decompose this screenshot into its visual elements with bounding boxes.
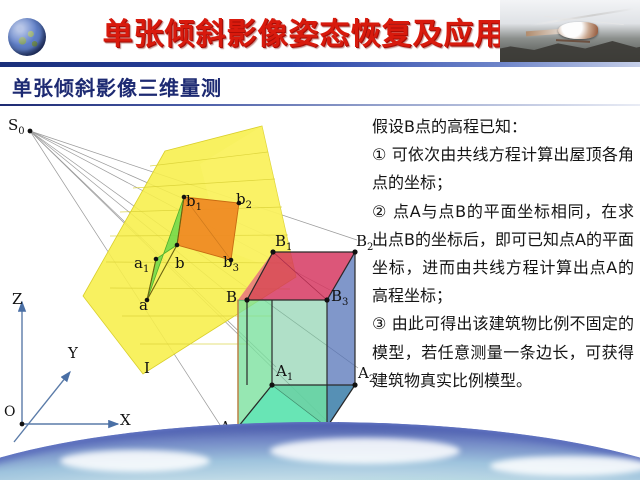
earth-cloud — [490, 456, 640, 476]
page-title: 单张倾斜影像姿态恢复及应用 — [104, 7, 504, 55]
axis-origin-dot — [20, 422, 25, 427]
slide-canvas: 单张倾斜影像姿态恢复及应用 单张倾斜影像三维量测 假设B点的高程已知： ① 可依… — [0, 0, 640, 480]
earth-cloud — [270, 438, 460, 464]
label-point-b2: b2 — [236, 190, 252, 211]
helicopter-body-shape — [558, 22, 598, 39]
label-axis-origin: O — [4, 404, 15, 420]
label-point-b3: b3 — [223, 253, 239, 274]
label-point-B: B — [226, 288, 237, 306]
label-perspective-center: S0 — [8, 116, 25, 137]
helicopter-photo — [500, 0, 640, 62]
section-subtitle: 单张倾斜影像三维量测 — [12, 72, 222, 101]
label-point-b1: b1 — [186, 192, 202, 213]
label-axis-y: Y — [68, 344, 78, 362]
helicopter-skid-shape — [556, 39, 590, 43]
label-point-B2: B2 — [356, 232, 373, 253]
diagram-svg — [0, 104, 640, 444]
label-point-A1: A1 — [276, 362, 293, 383]
label-point-a: a — [139, 296, 148, 314]
label-point-B1: B1 — [275, 232, 292, 253]
slide-header: 单张倾斜影像姿态恢复及应用 — [0, 0, 640, 62]
label-image-plane: I — [144, 359, 150, 377]
earth-globe-icon — [8, 18, 46, 56]
header-divider-bar — [0, 62, 640, 67]
label-point-b: b — [175, 254, 185, 272]
label-point-A2: A2 — [358, 364, 375, 385]
label-axis-x: X — [120, 411, 131, 429]
coordinate-axes — [14, 302, 118, 442]
label-point-a1: a1 — [134, 254, 149, 275]
earth-cloud — [60, 450, 210, 472]
label-axis-z: Z — [12, 290, 22, 308]
photogrammetry-diagram: S0 b1 b2 b3 b a1 a I B1 B2 B3 B A1 A2 A3… — [0, 104, 640, 444]
label-point-B3: B3 — [331, 287, 348, 308]
